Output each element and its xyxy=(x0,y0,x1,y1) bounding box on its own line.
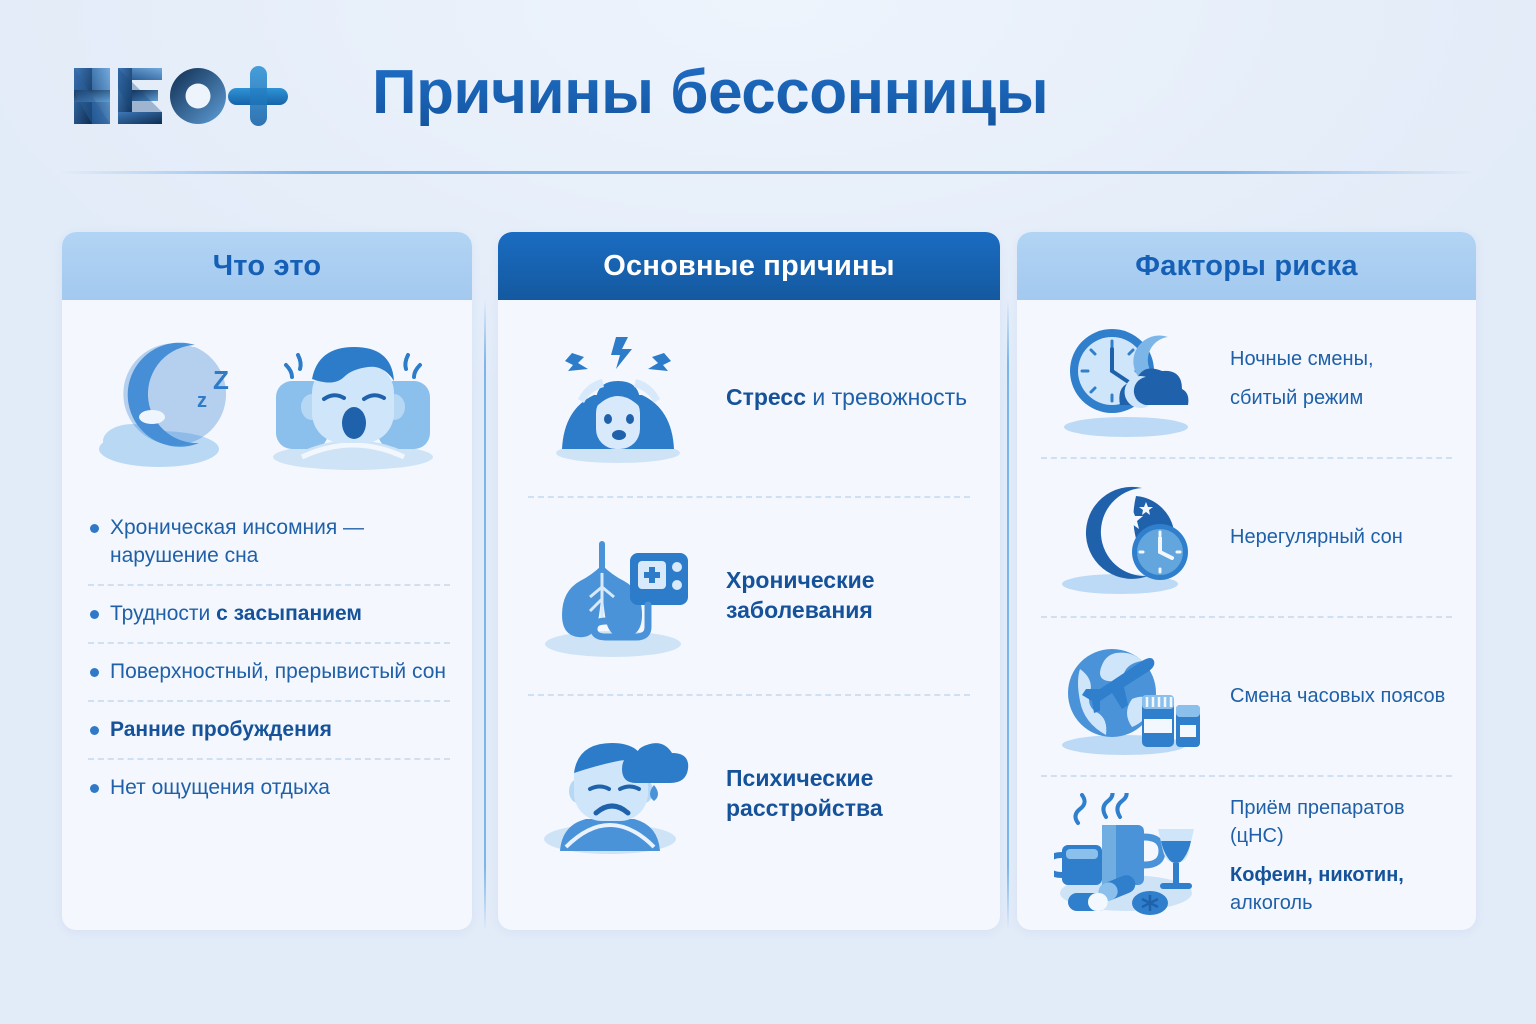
bullet-dot-icon xyxy=(90,668,99,677)
hero-illustration: Z z xyxy=(62,300,472,500)
list-item: Психические расстройства xyxy=(528,696,970,892)
card-what-is-it: Что это Z z xyxy=(62,232,472,930)
list-item: Хроническая инсомния — нарушение сна xyxy=(88,500,450,586)
list-item-label: Хроническая инсомния — нарушение сна xyxy=(110,514,450,570)
card-body-what-is-it: Z z xyxy=(62,300,472,930)
moon-zzz-icon: Z z xyxy=(97,325,262,475)
list-item: Трудности с засыпанием xyxy=(88,586,450,644)
list-item-label: Трудности с засыпанием xyxy=(110,600,362,628)
clock-moon-icon xyxy=(1041,319,1216,439)
lungs-bloodpressure-icon xyxy=(528,529,708,664)
neo-plus-logo-icon xyxy=(70,62,300,132)
list-item-label: Поверхностный, прерывистый сон xyxy=(110,658,446,686)
list-item-label: Ранние пробуждения xyxy=(110,716,332,744)
svg-text:z: z xyxy=(197,390,207,412)
list-item: Хронические заболевания xyxy=(528,498,970,696)
card-body-main-causes: Стресс и тревожность xyxy=(498,300,1000,930)
card-title: Основные причины xyxy=(603,250,894,283)
list-item: Поверхностный, прерывистый сон xyxy=(88,644,450,702)
list-item-label: Приём препаратов (цНС) Кофеин, никотин, … xyxy=(1230,794,1452,918)
card-body-risk-factors: Ночные смены, сбитый режим xyxy=(1017,300,1476,930)
list-item-label: Хронические заболевания xyxy=(726,566,970,626)
sad-person-raincloud-icon xyxy=(528,727,708,862)
card-title: Что это xyxy=(213,250,322,283)
yawning-person-icon xyxy=(268,325,438,475)
bullet-dot-icon xyxy=(90,784,99,793)
page-header: Причины бессонницы xyxy=(0,0,1536,172)
stressed-head-lightning-icon xyxy=(528,331,708,466)
list-item-label: Стресс и тревожность xyxy=(726,383,967,413)
crescent-stars-clock-icon xyxy=(1041,478,1216,598)
svg-text:Z: Z xyxy=(213,365,229,395)
list-item-label: Ночные смены, сбитый режим xyxy=(1230,345,1374,412)
list-item: Стресс и тревожность xyxy=(528,300,970,498)
list-item: Приём препаратов (цНС) Кофеин, никотин, … xyxy=(1041,777,1452,930)
card-header-main-causes: Основные причины xyxy=(498,232,1000,300)
card-header-risk-factors: Факторы риска xyxy=(1017,232,1476,300)
bullet-dot-icon xyxy=(90,726,99,735)
column-divider-2 xyxy=(1007,300,1009,930)
brand-logo xyxy=(70,62,300,132)
columns-container: Что это Z z xyxy=(0,232,1536,932)
card-header-what-is-it: Что это xyxy=(62,232,472,300)
list-item: Нет ощущения отдыха xyxy=(88,760,450,816)
globe-plane-pills-icon xyxy=(1041,637,1216,757)
causes-list: Стресс и тревожность xyxy=(498,300,1000,892)
card-main-causes: Основные причины xyxy=(498,232,1000,930)
list-item: Смена часовых поясов xyxy=(1041,618,1452,777)
list-item: Ночные смены, сбитый режим xyxy=(1041,300,1452,459)
list-item-label: Нет ощущения отдыха xyxy=(110,774,330,802)
risk-list: Ночные смены, сбитый режим xyxy=(1017,300,1476,930)
infographic-page: Причины бессонницы Что это xyxy=(0,0,1536,1024)
bullet-dot-icon xyxy=(90,610,99,619)
coffee-wine-pills-icon xyxy=(1041,793,1216,918)
list-item-label: Психические расстройства xyxy=(726,764,970,824)
page-title: Причины бессонницы xyxy=(372,57,1048,128)
list-item: Ранние пробуждения xyxy=(88,702,450,760)
list-item-label: Смена часовых поясов xyxy=(1230,682,1445,710)
symptom-list: Хроническая инсомния — нарушение сна Тру… xyxy=(62,500,472,816)
card-title: Факторы риска xyxy=(1135,250,1357,283)
card-risk-factors: Факторы риска xyxy=(1017,232,1476,930)
header-divider xyxy=(60,171,1476,174)
column-divider-1 xyxy=(484,300,486,930)
list-item: Нерегулярный сон xyxy=(1041,459,1452,618)
list-item-label: Нерегулярный сон xyxy=(1230,523,1403,551)
bullet-dot-icon xyxy=(90,524,99,533)
